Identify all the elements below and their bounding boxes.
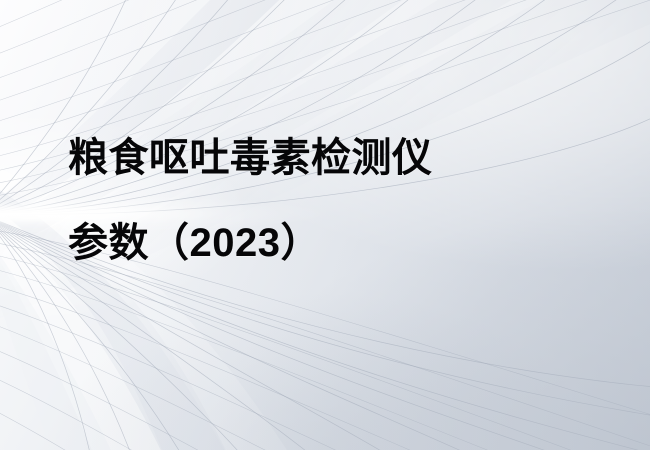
banner-image: 粮食呕吐毒素检测仪 参数（2023）: [0, 0, 650, 450]
headline-line-2: 参数（2023）: [68, 201, 628, 286]
headline-line-1: 粮食呕吐毒素检测仪: [68, 116, 628, 201]
banner-headline: 粮食呕吐毒素检测仪 参数（2023）: [68, 116, 628, 286]
